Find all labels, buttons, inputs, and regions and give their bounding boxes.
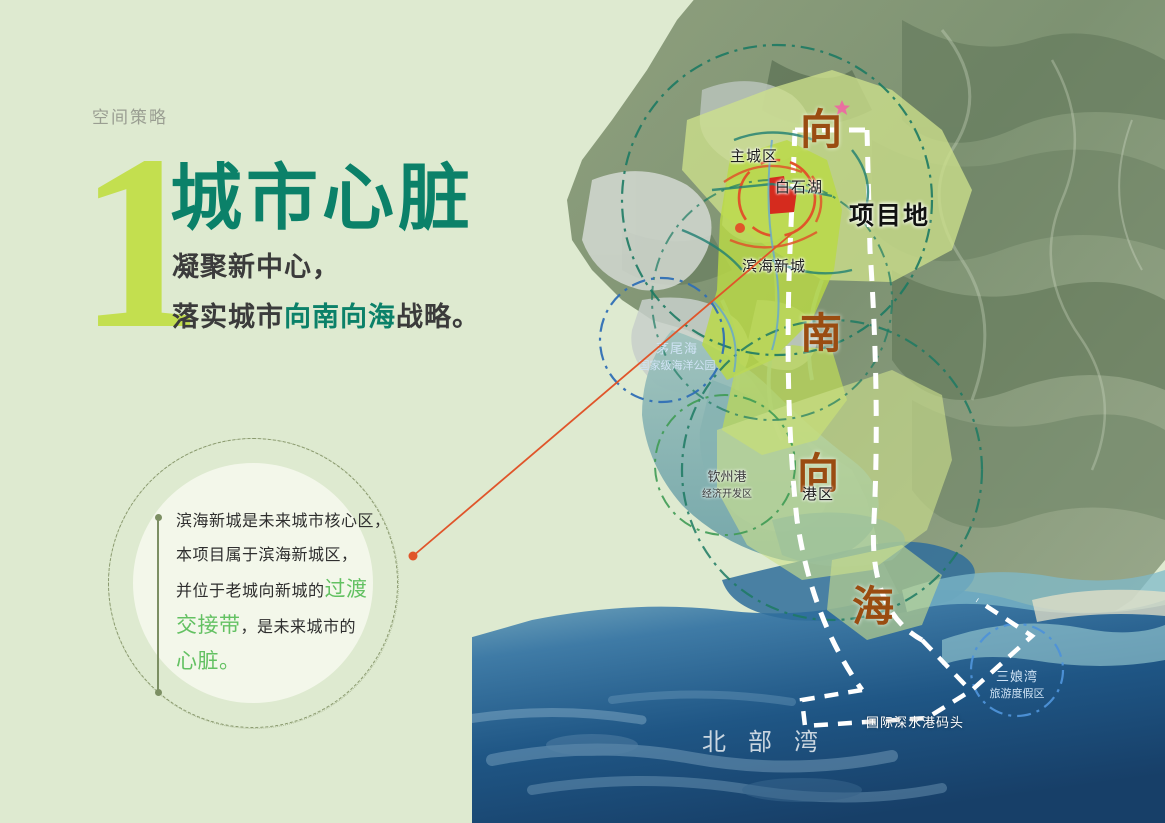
callout-line-3-highlight: 过渡: [325, 578, 368, 601]
callout-line-2: 本项目属于滨海新城区，: [176, 539, 391, 573]
slide-root: 向 南 向 海 主城区 白石湖 项目地 滨海新城 港区 茅尾海 国家级海洋公园 …: [0, 0, 1165, 823]
callout-line-4-plain: ，是未来城市的: [241, 619, 357, 636]
callout-line-3-plain: 并位于老城向新城的: [176, 583, 325, 600]
subtitle-line-2-plain-a: 落实城市: [172, 302, 284, 332]
subtitle-line-2-highlight: 向南向海: [284, 302, 396, 332]
callout-line-3: 并位于老城向新城的过渡: [176, 573, 391, 609]
page-title: 城市心脏: [170, 160, 474, 238]
subtitle-line-1: 凝聚新中心，: [172, 250, 340, 284]
callout-line-5-highlight: 心脏。: [176, 650, 241, 673]
connector-anchor: [735, 223, 745, 233]
callout-line-4: 交接带，是未来城市的: [176, 609, 391, 645]
subtitle-line-2-plain-b: 战略。: [396, 302, 480, 332]
callout-line-4-highlight: 交接带: [176, 614, 241, 637]
callout-accent-bar: [157, 518, 159, 692]
callout-text: 滨海新城是未来城市核心区， 本项目属于滨海新城区， 并位于老城向新城的过渡 交接…: [176, 505, 391, 681]
map-panel[interactable]: 向 南 向 海 主城区 白石湖 项目地 滨海新城 港区 茅尾海 国家级海洋公园 …: [472, 0, 1165, 823]
map-graphic: [472, 0, 1165, 823]
subtitle-line-2: 落实城市向南向海战略。: [172, 300, 480, 334]
callout-line-1: 滨海新城是未来城市核心区，: [176, 505, 391, 539]
callout-line-5: 心脏。: [176, 645, 391, 681]
